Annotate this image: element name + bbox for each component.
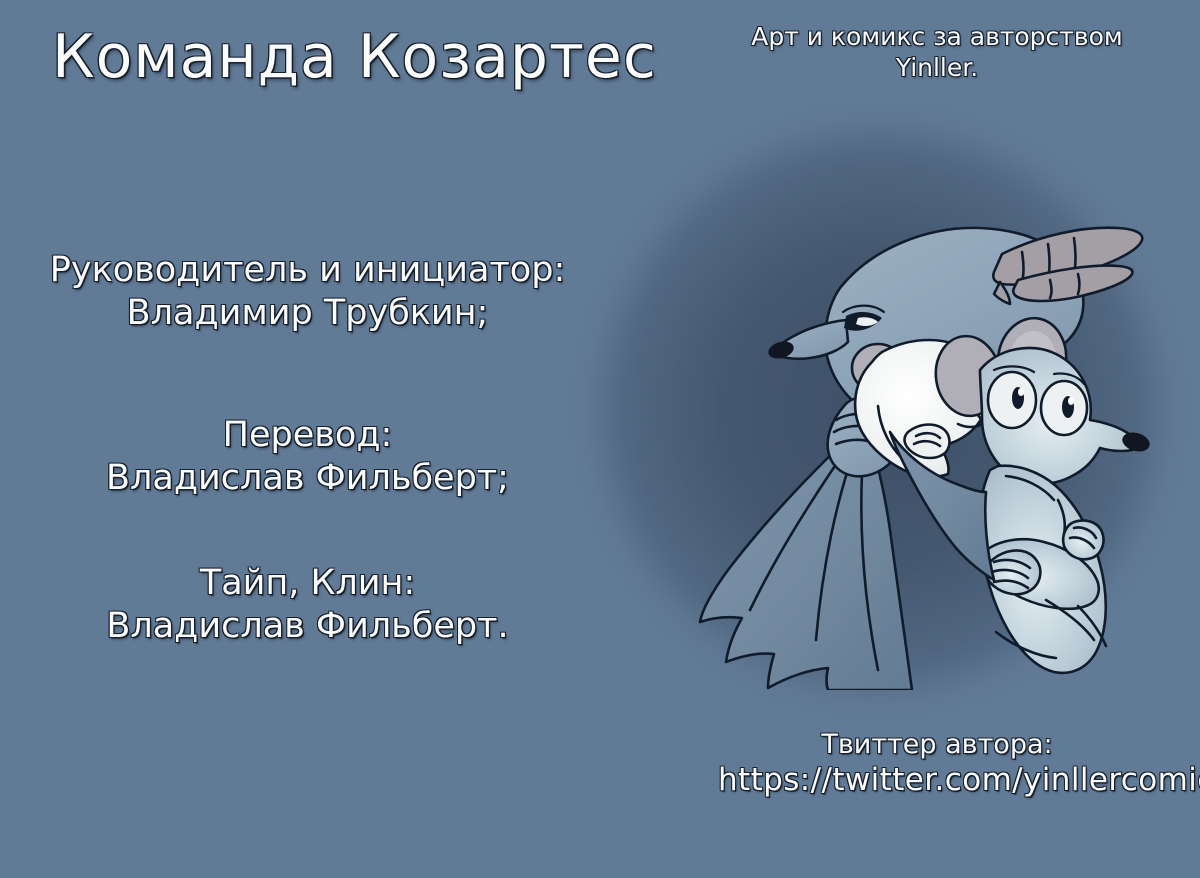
credit-person: Владислав Фильберт; [0, 457, 615, 500]
twitter-label: Твиттер автора: [718, 729, 1156, 762]
bat-wing [700, 438, 912, 690]
credit-role: Руководитель и инициатор: [0, 249, 615, 292]
credit-block-lead: Руководитель и инициатор: Владимир Трубк… [0, 249, 615, 334]
twitter-url[interactable]: https://twitter.com/yinllercomic [718, 762, 1156, 800]
author-credit: Арт и комикс за авторством Yinller. [722, 22, 1152, 83]
page-title: Команда Козартес [0, 26, 640, 89]
credits-page: Команда Козартес Арт и комикс за авторст… [0, 0, 1200, 878]
credit-role: Тайп, Клин: [0, 562, 615, 605]
credit-role: Перевод: [0, 414, 615, 457]
credit-person: Владимир Трубкин; [0, 292, 615, 335]
author-credit-line1: Арт и комикс за авторством [722, 22, 1152, 53]
illustration-bat-and-mice [650, 170, 1190, 690]
credit-block-typesetting: Тайп, Клин: Владислав Фильберт. [0, 562, 615, 647]
credit-person: Владислав Фильберт. [0, 605, 615, 648]
twitter-credit: Твиттер автора: https://twitter.com/yinl… [718, 729, 1156, 800]
credit-block-translation: Перевод: Владислав Фильберт; [0, 414, 615, 499]
author-credit-line2: Yinller. [722, 53, 1152, 84]
